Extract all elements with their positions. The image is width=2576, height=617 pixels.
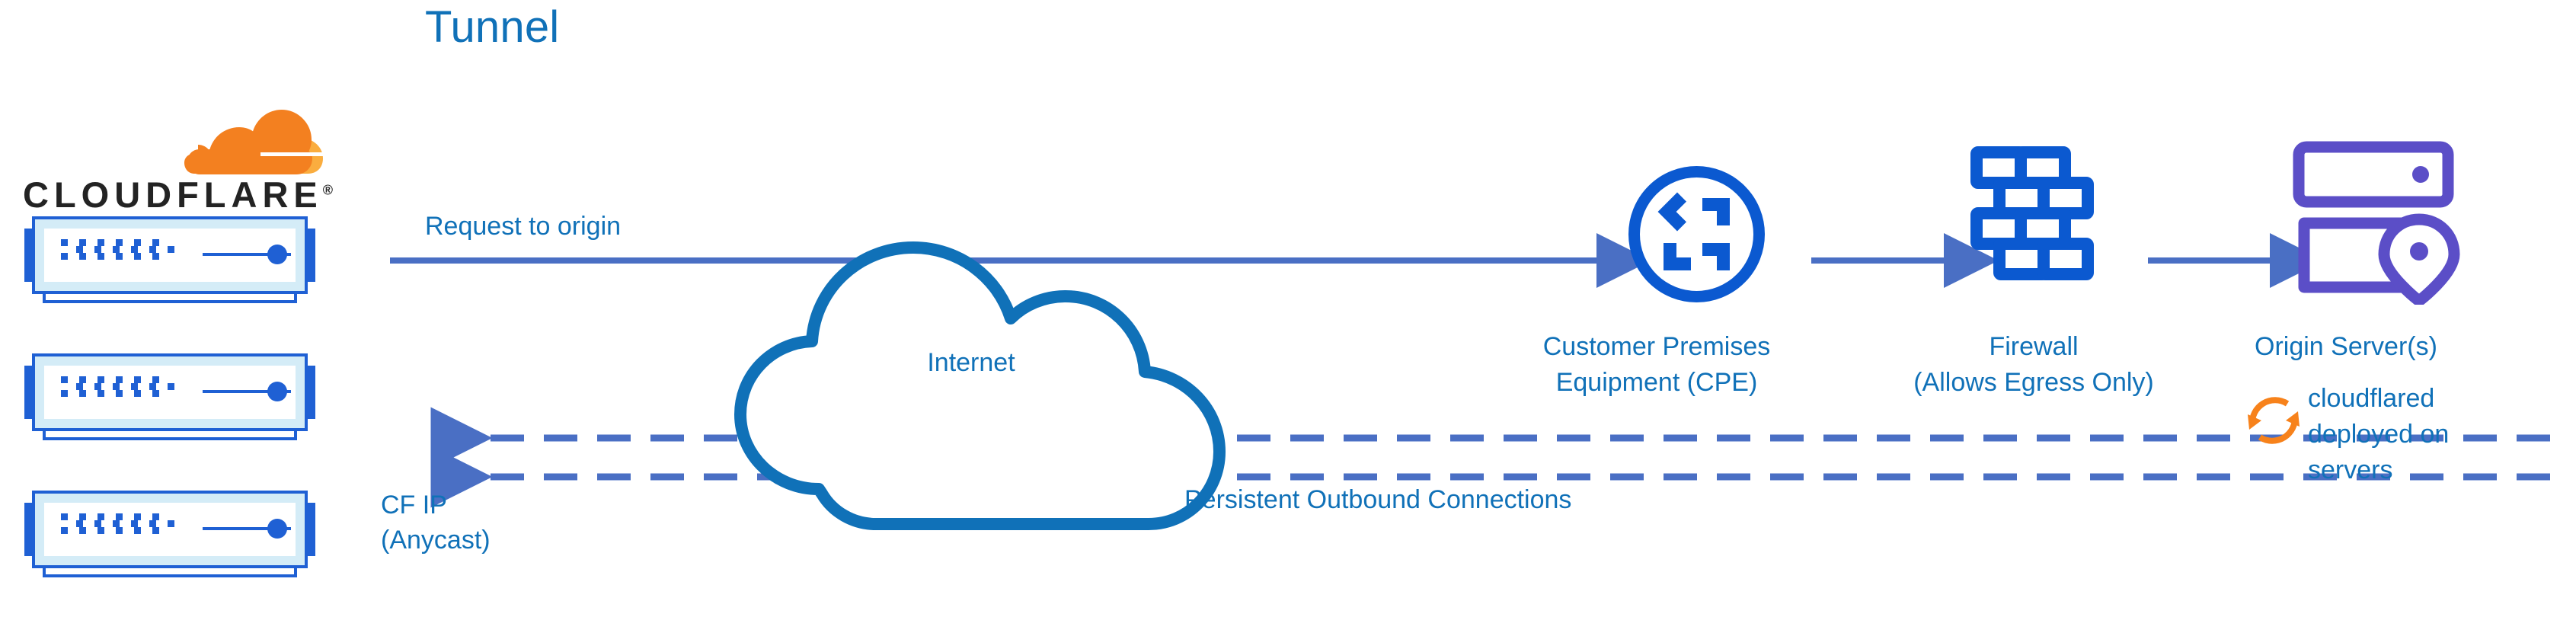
label-cf-ip-anycast: CF IP (Anycast) (381, 488, 491, 558)
diagram-canvas: Tunnel CLOUDFLARE® (0, 0, 2576, 617)
label-persistent-outbound-connections: Persistent Outbound Connections (1184, 484, 1571, 516)
cloudflare-wordmark-text: CLOUDFLARE (23, 174, 323, 215)
cloudflare-logo: CLOUDFLARE® (23, 107, 343, 206)
label-origin-servers: Origin Server(s) (2255, 329, 2574, 365)
page-title: Tunnel (425, 0, 559, 55)
server-rack-pin-icon (2293, 141, 2468, 305)
network-switch-icon (11, 212, 338, 303)
brick-wall-icon (1969, 145, 2114, 297)
label-cloudflared-deployed-on-servers: cloudflared deployed on servers (2308, 381, 2544, 488)
cf-edge-server-1 (11, 212, 338, 307)
label-internet: Internet (842, 347, 1101, 379)
network-switch-icon (11, 349, 338, 440)
label-request-to-origin: Request to origin (425, 210, 621, 242)
label-firewall: Firewall (Allows Egress Only) (1858, 329, 2209, 401)
cloudflare-cloud-icon (181, 107, 326, 177)
cloudflare-wordmark: CLOUDFLARE® (23, 174, 333, 216)
internet-cloud-icon (740, 248, 1219, 524)
network-switch-icon (11, 486, 338, 577)
cf-edge-server-2 (11, 349, 338, 444)
registered-trademark-icon: ® (323, 182, 333, 197)
label-customer-premises-equipment: Customer Premises Equipment (CPE) (1489, 329, 1824, 401)
cf-edge-server-3 (11, 486, 338, 581)
sync-circular-arrows-icon (2243, 390, 2304, 451)
router-four-arrows-icon (1626, 164, 1767, 305)
